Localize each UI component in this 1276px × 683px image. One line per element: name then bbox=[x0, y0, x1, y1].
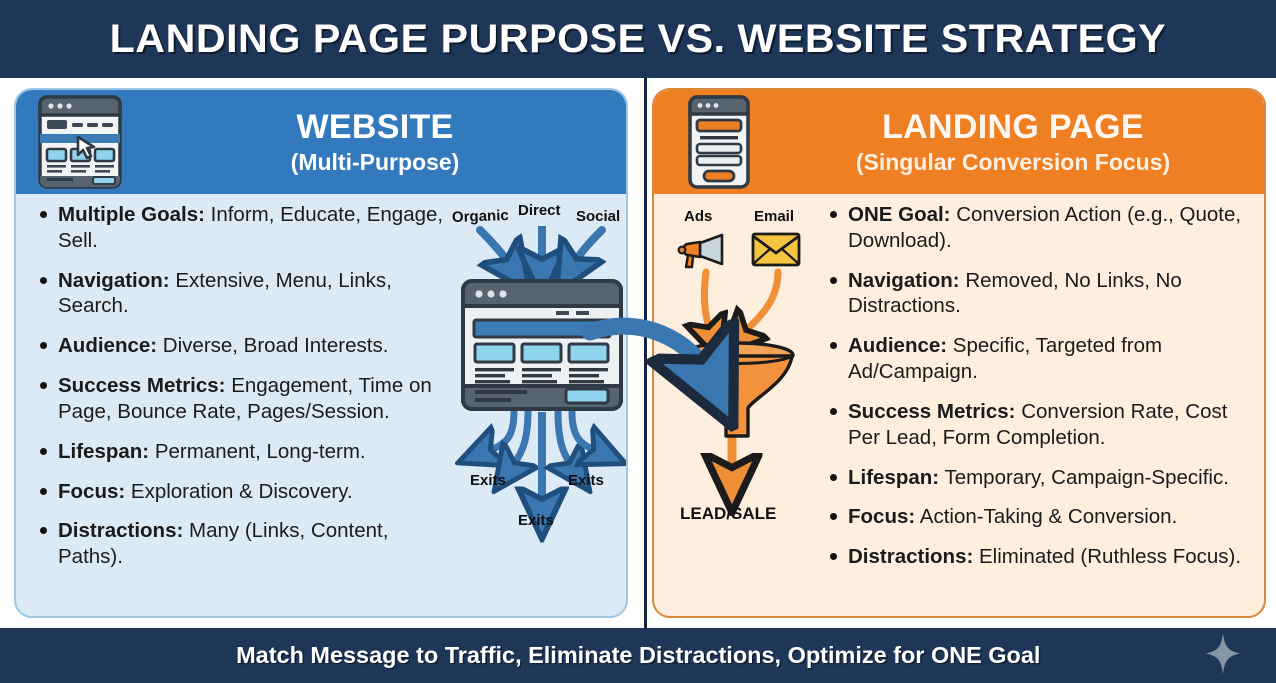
bullet-label: Navigation: bbox=[848, 269, 960, 292]
list-item: Distractions: Many (Links, Content, Path… bbox=[36, 518, 456, 570]
bullet-text: Temporary, Campaign-Specific. bbox=[939, 466, 1229, 489]
exit-label-center: Exits bbox=[518, 512, 554, 529]
bullet-label: Lifespan: bbox=[58, 440, 149, 463]
bullet-text: Diverse, Broad Interests. bbox=[157, 334, 388, 357]
bullet-label: Success Metrics: bbox=[58, 374, 226, 397]
bullet-label: Lifespan: bbox=[848, 466, 939, 489]
list-item: Navigation: Extensive, Menu, Links, Sear… bbox=[36, 268, 456, 320]
bullet-text: Permanent, Long-term. bbox=[149, 440, 366, 463]
bullet-label: Audience: bbox=[58, 334, 157, 357]
list-item: Multiple Goals: Inform, Educate, Engage,… bbox=[36, 202, 456, 254]
website-panel: WEBSITE (Multi-Purpose) Multiple Goals: … bbox=[14, 88, 628, 618]
landing-page-bullet-list: ONE Goal: Conversion Action (e.g., Quote… bbox=[826, 202, 1256, 584]
footer-bar: Match Message to Traffic, Eliminate Dist… bbox=[0, 628, 1276, 683]
bullet-label: Focus: bbox=[58, 480, 125, 503]
landing-page-panel-subtitle: (Singular Conversion Focus) bbox=[856, 150, 1170, 174]
website-panel-header: WEBSITE (Multi-Purpose) bbox=[16, 90, 626, 194]
title-bar: LANDING PAGE PURPOSE VS. WEBSITE STRATEG… bbox=[0, 0, 1276, 78]
website-bullet-list: Multiple Goals: Inform, Educate, Engage,… bbox=[36, 202, 456, 584]
bullet-text: Eliminated (Ruthless Focus). bbox=[973, 545, 1241, 568]
landing-page-panel: LANDING PAGE (Singular Conversion Focus)… bbox=[652, 88, 1266, 618]
list-item: Navigation: Removed, No Links, No Distra… bbox=[826, 268, 1256, 320]
bullet-label: Success Metrics: bbox=[848, 400, 1016, 423]
list-item: Lifespan: Temporary, Campaign-Specific. bbox=[826, 465, 1256, 491]
diamond-sparkle-icon bbox=[1206, 632, 1240, 679]
list-item: Distractions: Eliminated (Ruthless Focus… bbox=[826, 544, 1256, 570]
bullet-label: Distractions: bbox=[848, 545, 973, 568]
footer-text: Match Message to Traffic, Eliminate Dist… bbox=[236, 642, 1040, 669]
traffic-to-funnel-arrow bbox=[560, 298, 740, 418]
bullet-label: Audience: bbox=[848, 334, 947, 357]
browser-window-icon bbox=[34, 93, 126, 191]
bullet-label: Multiple Goals: bbox=[58, 203, 205, 226]
exit-label-left: Exits bbox=[470, 472, 506, 489]
funnel-outcome-label: LEAD/SALE bbox=[680, 504, 776, 524]
bullet-text: Action-Taking & Conversion. bbox=[915, 505, 1177, 528]
list-item: ONE Goal: Conversion Action (e.g., Quote… bbox=[826, 202, 1256, 254]
bullet-label: Navigation: bbox=[58, 269, 170, 292]
landing-page-panel-header: LANDING PAGE (Singular Conversion Focus) bbox=[654, 90, 1264, 194]
bullet-label: Distractions: bbox=[58, 519, 183, 542]
bullet-label: Focus: bbox=[848, 505, 915, 528]
website-panel-subtitle: (Multi-Purpose) bbox=[291, 150, 460, 174]
bullet-text: Exploration & Discovery. bbox=[125, 480, 352, 503]
landing-page-icon bbox=[672, 93, 764, 191]
content-canvas: WEBSITE (Multi-Purpose) Multiple Goals: … bbox=[0, 78, 1276, 628]
website-panel-title: WEBSITE bbox=[297, 110, 454, 146]
landing-page-panel-title-group: LANDING PAGE (Singular Conversion Focus) bbox=[780, 110, 1246, 174]
list-item: Audience: Diverse, Broad Interests. bbox=[36, 333, 456, 359]
exit-label-right: Exits bbox=[568, 472, 604, 489]
list-item: Lifespan: Permanent, Long-term. bbox=[36, 439, 456, 465]
list-item: Success Metrics: Engagement, Time on Pag… bbox=[36, 373, 456, 425]
list-item: Audience: Specific, Targeted from Ad/Cam… bbox=[826, 333, 1256, 385]
bullet-label: ONE Goal: bbox=[848, 203, 951, 226]
page-title: LANDING PAGE PURPOSE VS. WEBSITE STRATEG… bbox=[110, 17, 1167, 62]
landing-page-panel-title: LANDING PAGE bbox=[882, 110, 1144, 146]
list-item: Focus: Exploration & Discovery. bbox=[36, 479, 456, 505]
list-item: Success Metrics: Conversion Rate, Cost P… bbox=[826, 399, 1256, 451]
website-panel-title-group: WEBSITE (Multi-Purpose) bbox=[142, 110, 608, 174]
list-item: Focus: Action-Taking & Conversion. bbox=[826, 504, 1256, 530]
